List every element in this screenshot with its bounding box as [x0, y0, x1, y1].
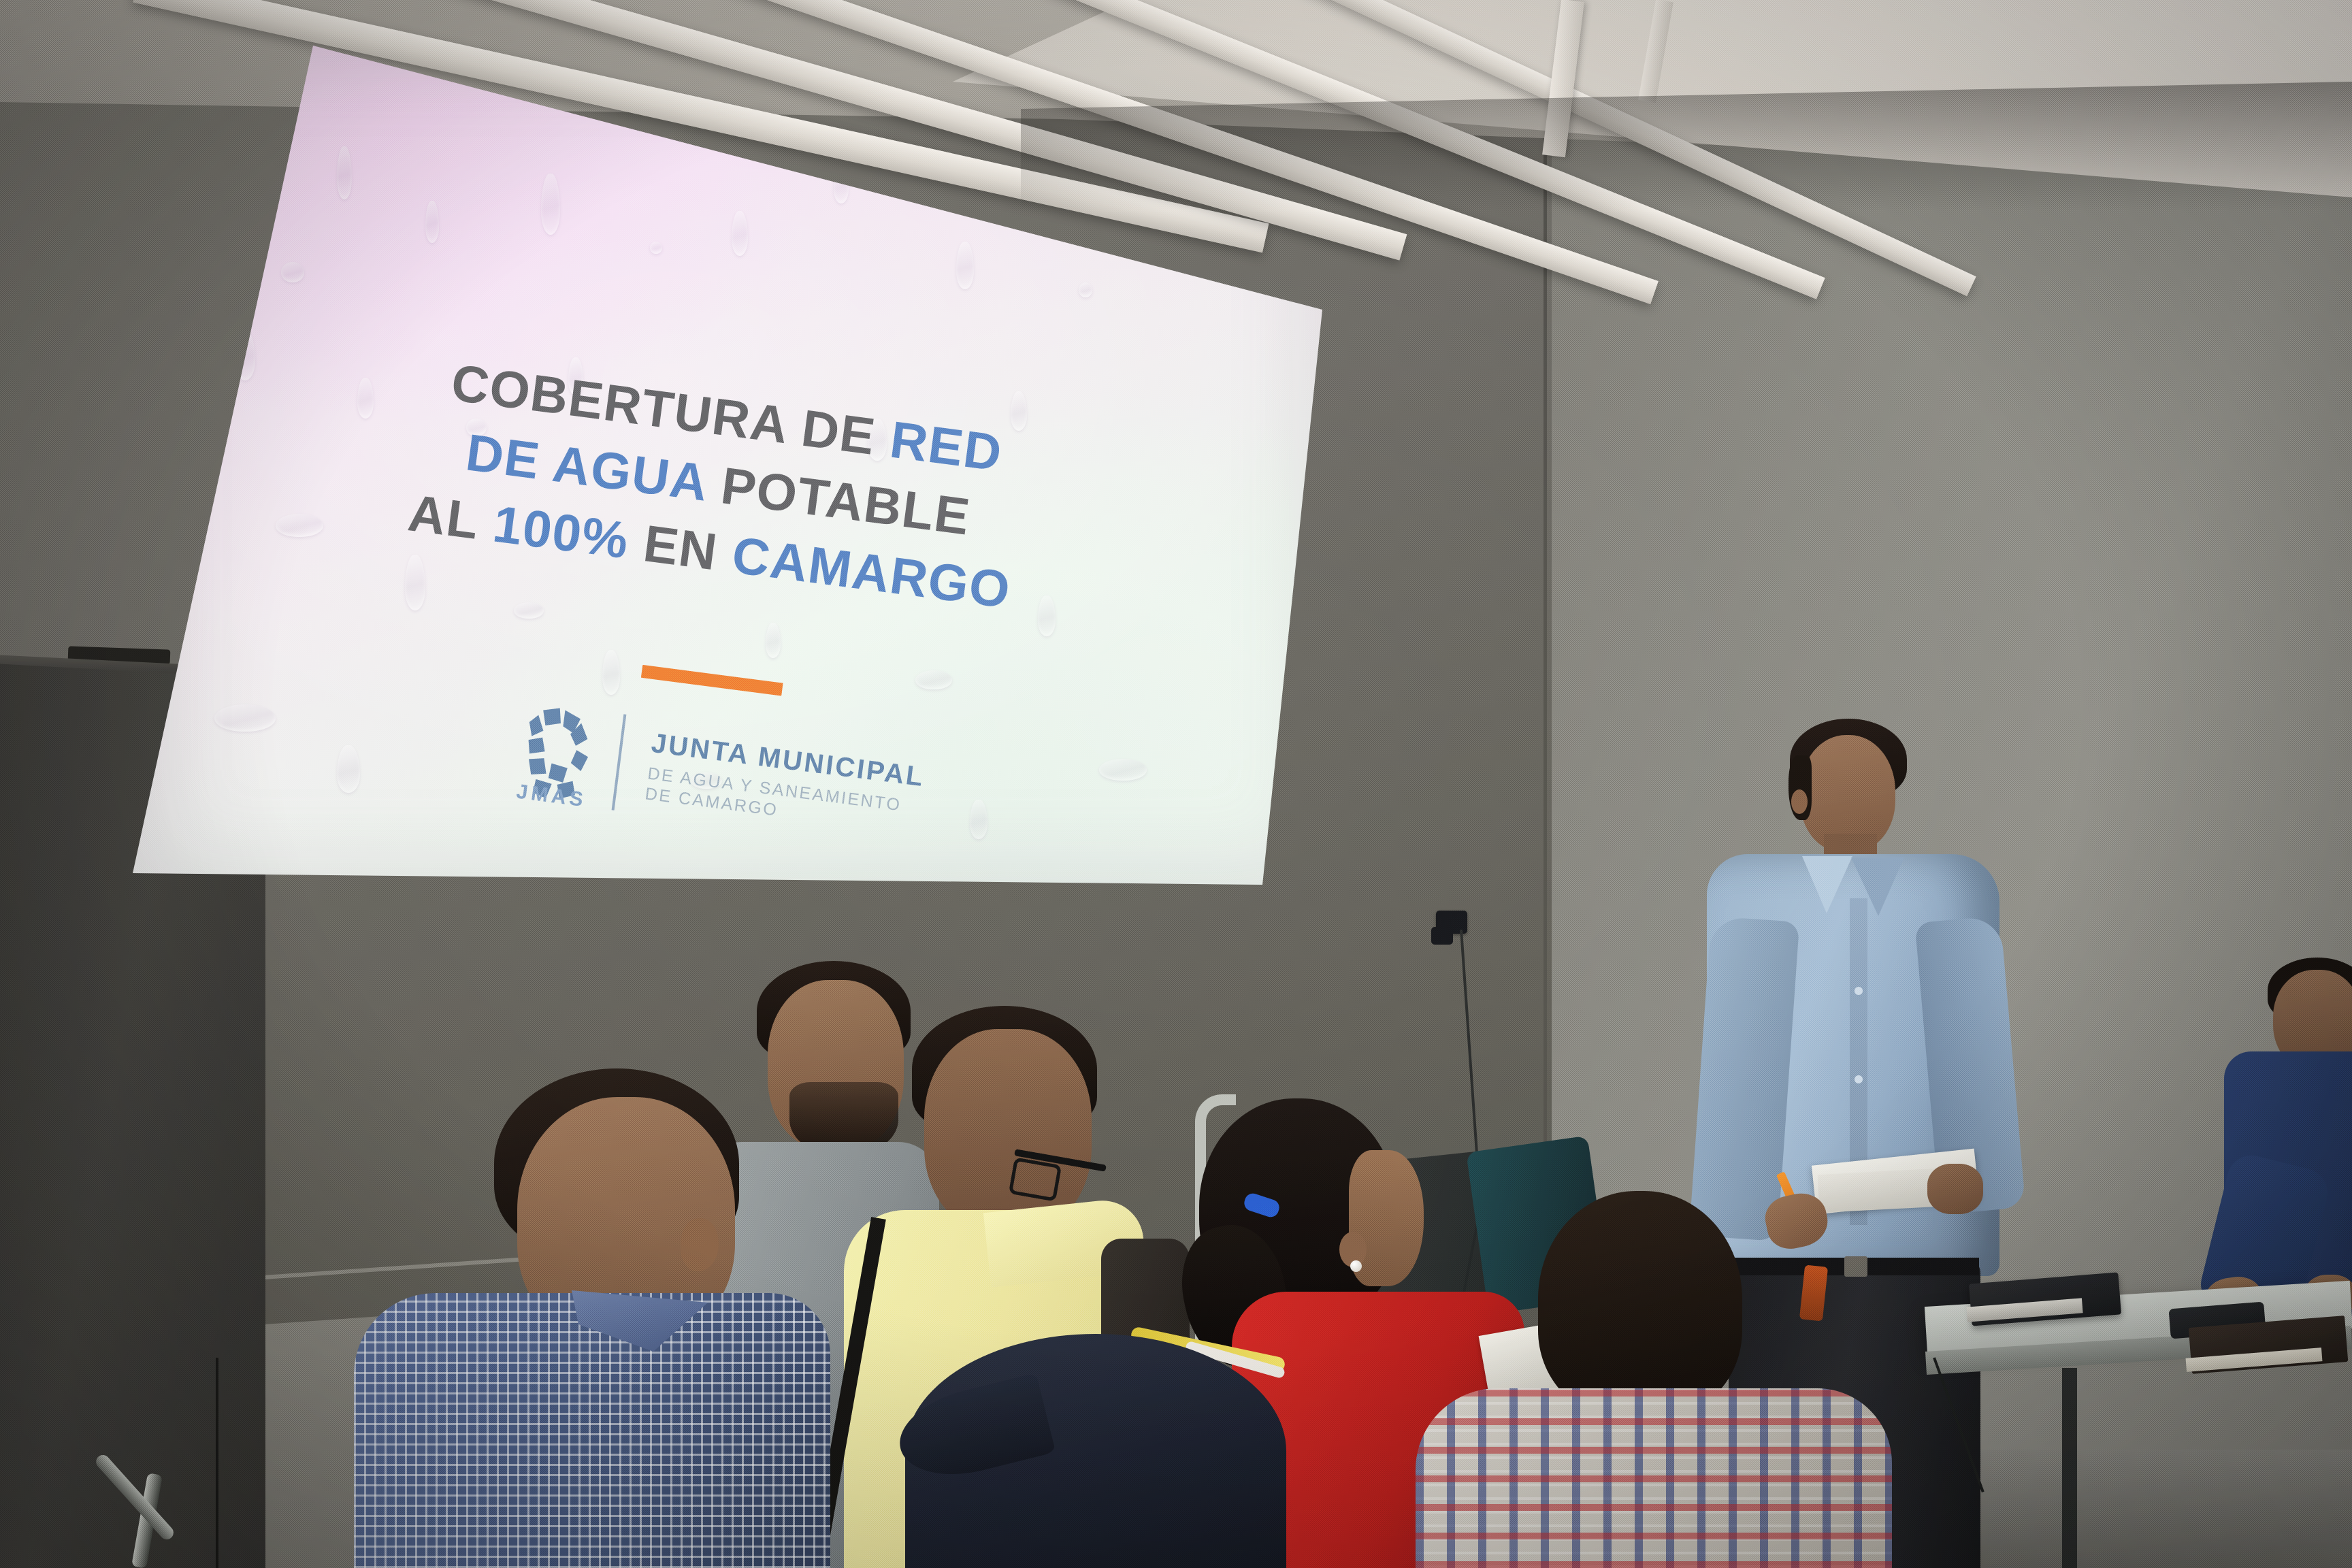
jmas-hexagon-map-icon: JMAS [512, 700, 605, 808]
title-part-blue: 100% [490, 495, 633, 570]
person-head [1538, 1191, 1742, 1416]
wall-outlet-plug [1431, 927, 1453, 945]
logo-text-block: JUNTA MUNICIPAL DE AGUA Y SANEAMIENTO DE… [630, 726, 926, 838]
title-part-gray: EN [640, 514, 721, 581]
cabinet-door-seam [216, 1358, 218, 1568]
title-part-gray: AL [405, 484, 482, 551]
pearl-earring [1350, 1260, 1362, 1272]
shirt-button [1855, 1075, 1863, 1083]
presenter-ear [1791, 789, 1808, 814]
belt-buckle [1844, 1256, 1867, 1277]
person-head [924, 1029, 1092, 1233]
person-checked-shirt [354, 1293, 830, 1568]
slide-accent-bar [641, 665, 783, 696]
title-part-blue: RED [887, 411, 1006, 483]
photo-scene: COBERTURA DE RED DE AGUA POTABLE AL 100%… [0, 0, 2352, 1568]
shirt-button [1855, 987, 1863, 995]
jmas-logo: JMAS JUNTA MUNICIPAL DE AGUA Y SANEAMIEN… [510, 692, 943, 860]
table-leg [2062, 1368, 2077, 1568]
slide-title: COBERTURA DE RED DE AGUA POTABLE AL 100%… [125, 310, 1311, 661]
presenter-right-hand [1927, 1164, 1983, 1214]
logo-divider [612, 714, 627, 810]
person-plaid-shirt [1416, 1388, 1892, 1568]
